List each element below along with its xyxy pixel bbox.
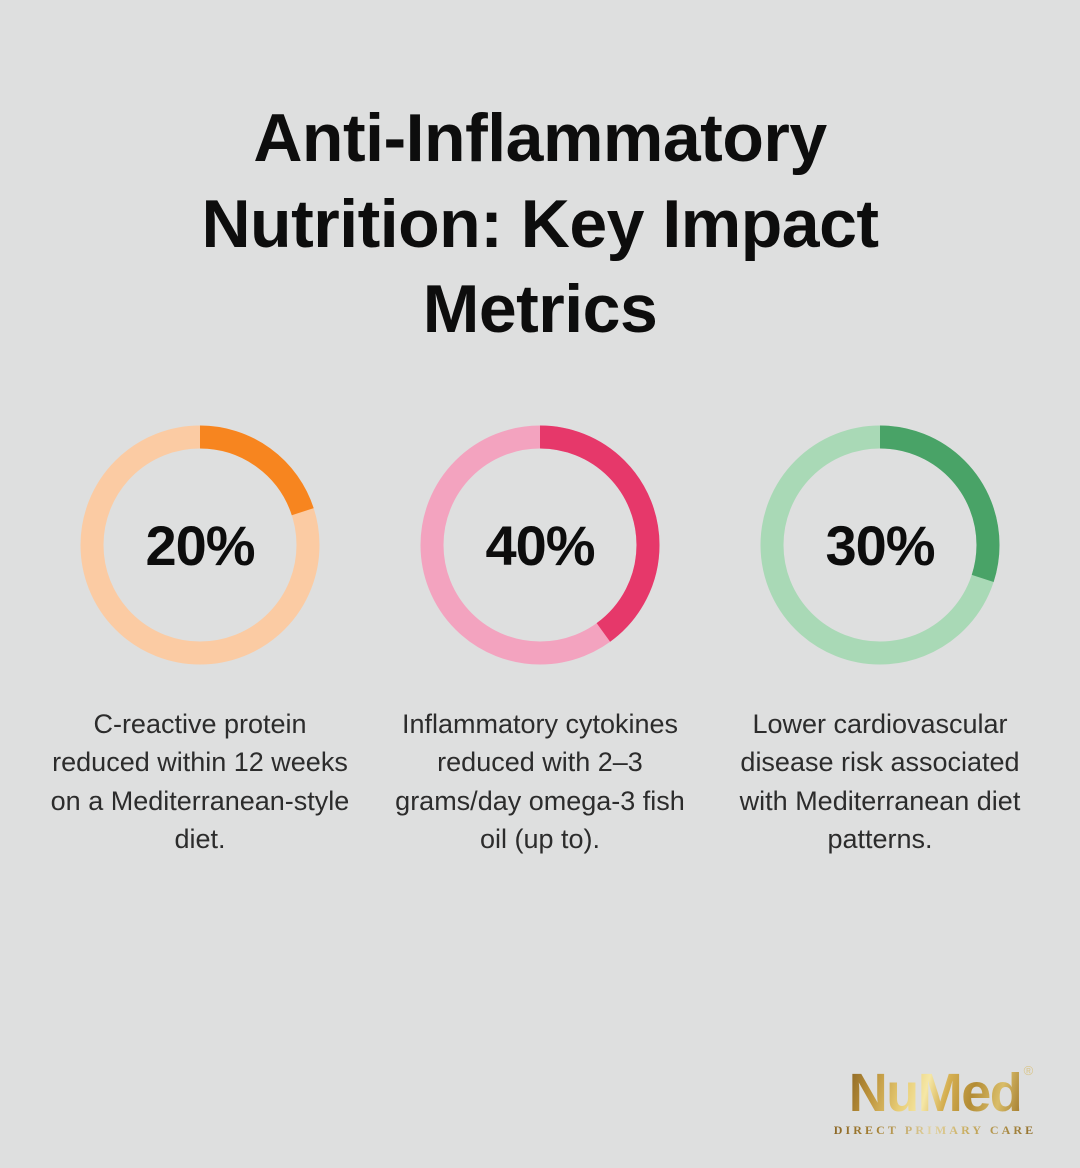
metric-card-3: 30% Lower cardiovascular disease risk as… [710,425,1050,858]
donut-value-label-2: 40% [420,425,660,665]
logo-mark: NuMed ® [849,1066,1021,1120]
registered-trademark-icon: ® [1024,1064,1034,1077]
metric-caption-2: Inflammatory cytokines reduced with 2–3 … [390,705,690,858]
page-title: Anti-Inflammatory Nutrition: Key Impact … [95,96,985,353]
metrics-row: 20% C-reactive protein reduced within 12… [0,425,1080,858]
logo-wordmark: NuMed [849,1063,1021,1123]
metric-caption-1: C-reactive protein reduced within 12 wee… [50,705,350,858]
donut-chart-3: 30% [760,425,1000,665]
metric-card-2: 40% Inflammatory cytokines reduced with … [370,425,710,858]
donut-chart-2: 40% [420,425,660,665]
title-block: Anti-Inflammatory Nutrition: Key Impact … [0,0,1080,353]
donut-chart-1: 20% [80,425,320,665]
logo-tagline: DIRECT PRIMARY CARE [830,1123,1040,1138]
infographic-canvas: Anti-Inflammatory Nutrition: Key Impact … [0,0,1080,1168]
metric-caption-3: Lower cardiovascular disease risk associ… [730,705,1030,858]
brand-logo: NuMed ® DIRECT PRIMARY CARE [830,1066,1040,1138]
metric-card-1: 20% C-reactive protein reduced within 12… [30,425,370,858]
donut-value-label-3: 30% [760,425,1000,665]
donut-value-label-1: 20% [80,425,320,665]
